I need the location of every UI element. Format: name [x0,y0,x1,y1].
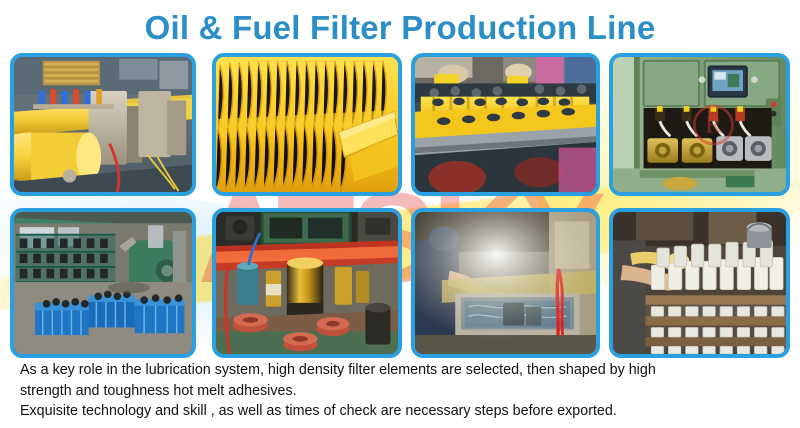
photo-8-image [613,212,786,354]
page-title: Oil & Fuel Filter Production Line [0,9,800,47]
gallery-photo-6[interactable] [212,208,402,358]
photo-2-image [216,57,398,192]
gallery-photo-8[interactable] [609,208,790,358]
description-line-2: strength and toughness hot melt adhesive… [20,381,788,402]
gallery-photo-2[interactable] [212,53,402,196]
gallery-photo-4[interactable]: R [609,53,790,196]
gallery-photo-3[interactable] [411,53,600,196]
photo-gallery: R [0,53,800,358]
gallery-photo-1[interactable] [10,53,196,196]
gallery-photo-5[interactable] [10,208,196,358]
description-line-3: Exquisite technology and skill , as well… [20,401,788,422]
svg-text:R: R [705,112,722,139]
photo-7-image [415,212,596,354]
photo-5-image [14,212,192,354]
photo-6-image [216,212,398,354]
photo-4-image: R [613,57,786,192]
photo-3-image [415,57,596,192]
product-info-page: Oil & Fuel Filter Production Line [0,0,800,428]
photo-1-image [14,57,192,192]
description-line-1: As a key role in the lubrication system,… [20,360,788,381]
description-block: As a key role in the lubrication system,… [20,360,788,422]
gallery-photo-7[interactable] [411,208,600,358]
